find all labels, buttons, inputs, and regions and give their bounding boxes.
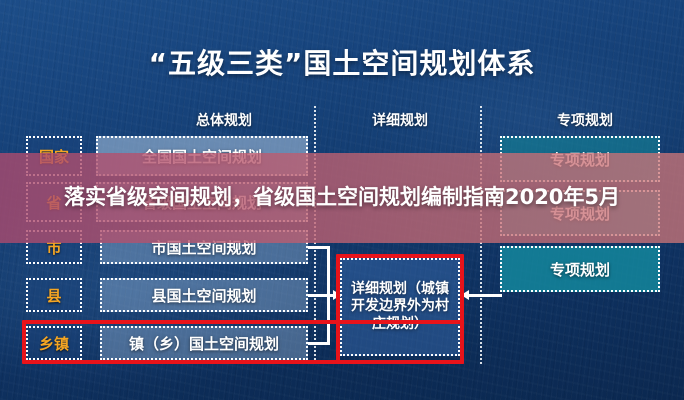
level-chip-township: 乡镇 bbox=[26, 326, 82, 360]
column-header-special: 专项规划 bbox=[500, 110, 670, 130]
plan-box-township: 镇（乡）国土空间规划 bbox=[100, 326, 308, 360]
plan-box-special-bottom: 专项规划 bbox=[500, 246, 660, 292]
plan-box-detailed: 详细规划（城镇开发边界外为村庄规划） bbox=[340, 258, 460, 356]
overlay-caption-band: 落实省级空间规划，省级国土空间规划编制指南2020年5月 bbox=[0, 153, 684, 243]
column-header-overall: 总体规划 bbox=[144, 110, 304, 130]
plan-box-county: 县国土空间规划 bbox=[100, 278, 308, 312]
overlay-caption-text: 落实省级空间规划，省级国土空间规划编制指南2020年5月 bbox=[32, 184, 652, 211]
page-title: “五级三类”国土空间规划体系 bbox=[0, 42, 684, 82]
column-header-detailed: 详细规划 bbox=[330, 110, 470, 130]
connector-special-to-detail bbox=[468, 294, 502, 297]
diagram-canvas: “五级三类”国土空间规划体系 总体规划 详细规划 专项规划 国家 省 市 县 乡… bbox=[0, 0, 684, 400]
arrow-head-special-to-detail bbox=[461, 290, 469, 300]
level-chip-county: 县 bbox=[26, 278, 82, 312]
